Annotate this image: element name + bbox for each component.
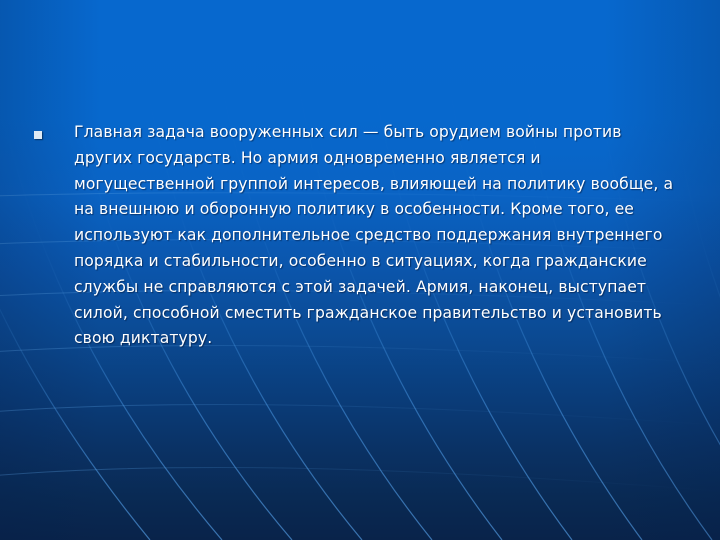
slide-body: Главная задача вооруженных сил — быть ор… xyxy=(0,0,720,540)
list-item: Главная задача вооруженных сил — быть ор… xyxy=(34,120,684,352)
square-bullet-icon xyxy=(34,131,42,139)
bullet-text: Главная задача вооруженных сил — быть ор… xyxy=(74,120,684,352)
presentation-slide: Главная задача вооруженных сил — быть ор… xyxy=(0,0,720,540)
